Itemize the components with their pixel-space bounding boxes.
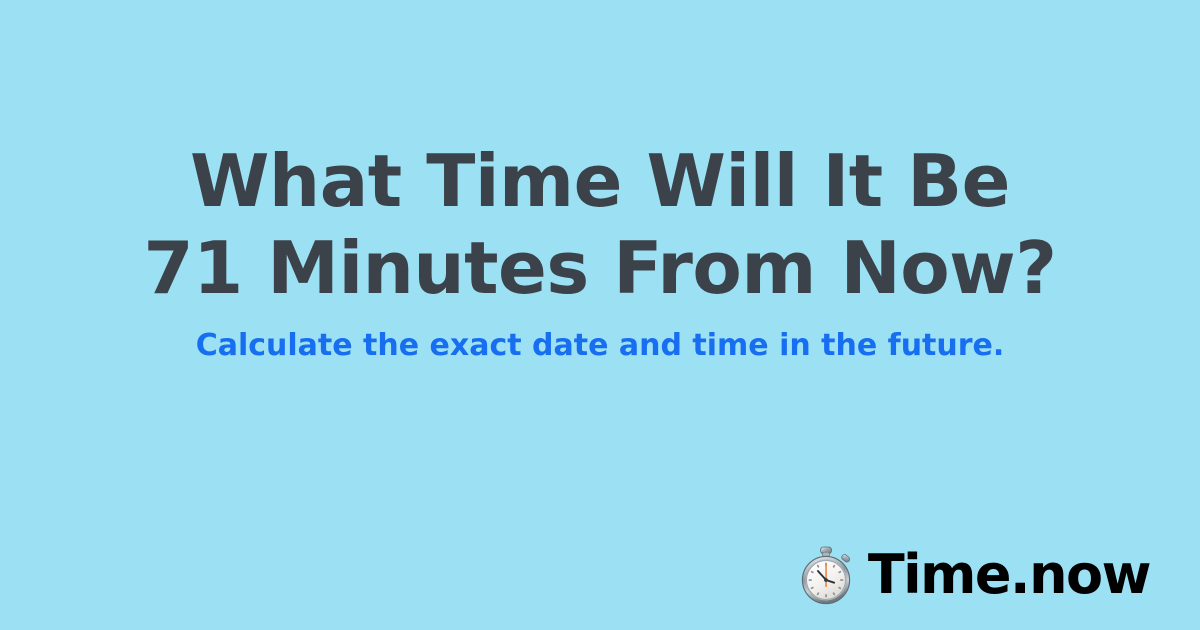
brand-logo: Time.now xyxy=(798,544,1150,606)
subtitle-container: Calculate the exact date and time in the… xyxy=(0,327,1200,365)
stopwatch-icon xyxy=(798,544,854,606)
headline-line-1: What Time Will It Be xyxy=(0,138,1200,225)
brand-name: Time.now xyxy=(868,547,1150,603)
page-subtitle: Calculate the exact date and time in the… xyxy=(0,327,1200,365)
headline-line-2: 71 Minutes From Now? xyxy=(0,225,1200,312)
social-share-card: What Time Will It Be 71 Minutes From Now… xyxy=(0,0,1200,630)
page-title: What Time Will It Be 71 Minutes From Now… xyxy=(0,138,1200,312)
